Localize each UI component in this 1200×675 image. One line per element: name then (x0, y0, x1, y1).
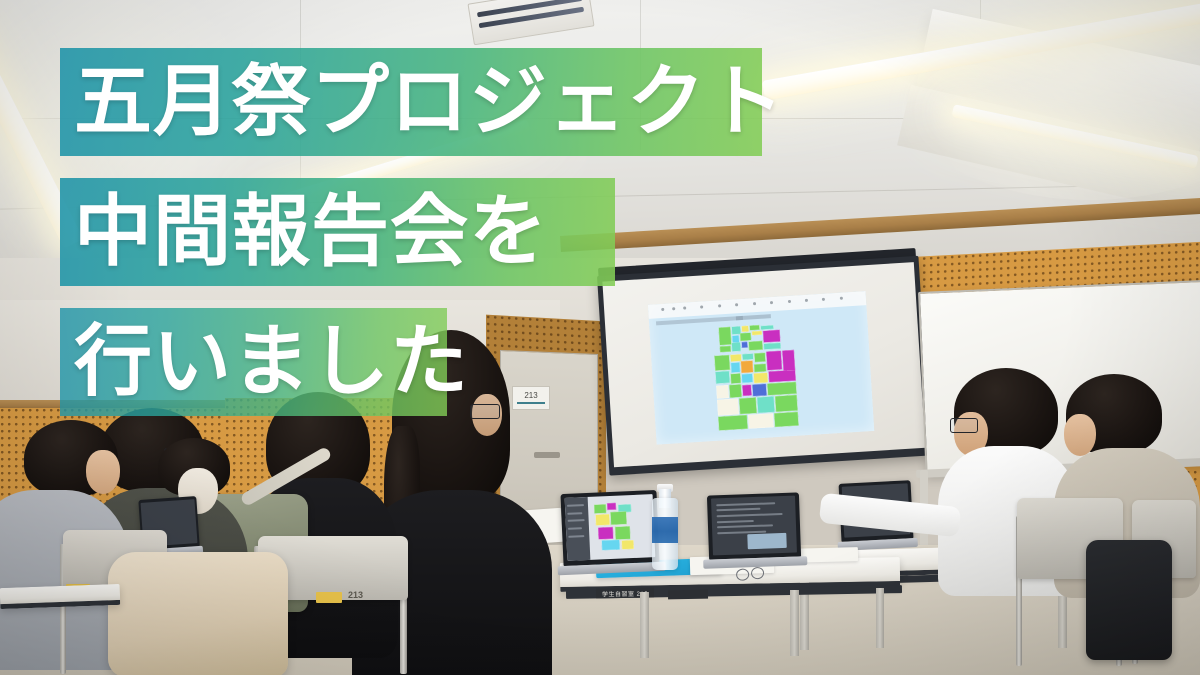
map-cell (615, 526, 630, 539)
map-cell (732, 342, 741, 352)
map-cell (621, 540, 633, 549)
table-leg (790, 590, 799, 656)
map-cell (754, 352, 765, 362)
map-cell (731, 374, 741, 384)
map-cell (731, 363, 740, 373)
map-cell (716, 385, 729, 399)
map-cell (718, 327, 732, 345)
laptop-booth-map (591, 499, 648, 555)
table-leg (640, 592, 649, 658)
map-cell (750, 325, 760, 330)
bottle-body (652, 498, 678, 570)
map-cell (740, 332, 752, 340)
map-cell (718, 415, 748, 431)
map-cell (740, 361, 753, 374)
map-cell (754, 373, 768, 384)
overlay-line-1: 五月祭プロジェクト (74, 63, 785, 141)
screenshot-root: 213 (0, 0, 1200, 675)
app-title-bar (736, 314, 771, 320)
chair-number: 213 (348, 590, 363, 600)
map-cell (598, 527, 614, 539)
projector-screen-surface (602, 262, 925, 467)
overlay-band-2: 中間報告会を (60, 178, 615, 286)
projector-screen-frame (597, 256, 931, 476)
map-cell (595, 515, 610, 526)
map-cell (741, 374, 753, 383)
backpack-right (1086, 540, 1172, 660)
laptop-screen (564, 494, 655, 561)
overlay-line-3: 行いました (74, 323, 469, 401)
map-cell (775, 395, 797, 412)
map-cell (754, 363, 766, 372)
draped-coat (108, 552, 288, 675)
map-cell (749, 340, 763, 351)
booth-layout-map (710, 320, 813, 435)
eyeglasses (736, 567, 763, 580)
map-cell (610, 512, 627, 525)
map-cell (741, 341, 748, 348)
map-cell (763, 343, 781, 351)
map-cell (714, 354, 730, 370)
map-cell (607, 502, 617, 510)
map-cell (767, 382, 796, 396)
overlay-band-3: 行いました (60, 308, 447, 416)
map-cell (742, 353, 754, 360)
table-asset-label-2 (668, 590, 708, 600)
map-cell (748, 413, 774, 429)
map-cell (593, 504, 605, 514)
map-cell (717, 399, 739, 416)
map-cell (753, 384, 767, 397)
bottle-label (652, 517, 678, 543)
map-cell (602, 540, 620, 550)
map-cell (768, 370, 795, 383)
laptop-lid (560, 490, 659, 566)
laptop-center-right[interactable] (707, 492, 801, 559)
laptop-screen-panel (747, 533, 786, 549)
map-cell (739, 398, 757, 414)
map-cell (729, 384, 741, 398)
overlay-band-1: 五月祭プロジェクト (60, 48, 762, 156)
map-cell (741, 326, 749, 332)
map-cell (763, 329, 781, 342)
map-cell (742, 385, 752, 396)
map-cell (757, 397, 775, 413)
table-left (0, 584, 120, 609)
map-cell (782, 349, 795, 372)
eyeglasses-icon (470, 404, 500, 419)
map-cell (715, 371, 730, 384)
table-leg (876, 588, 884, 648)
water-bottle (652, 484, 678, 570)
map-cell (752, 331, 762, 336)
eyeglasses-icon (950, 418, 978, 433)
laptop-screen (711, 496, 798, 555)
map-cell (766, 350, 783, 371)
map-cell (774, 411, 799, 427)
map-cell (719, 346, 731, 353)
chair-tag (316, 592, 342, 603)
laptop-app-sidebar (564, 497, 590, 561)
overlay-line-2: 中間報告会を (74, 193, 548, 271)
laptop-lid (707, 492, 801, 559)
projected-app-window (648, 291, 874, 444)
face (1064, 414, 1096, 456)
face (86, 450, 120, 494)
laptop-center-left[interactable] (560, 490, 659, 566)
